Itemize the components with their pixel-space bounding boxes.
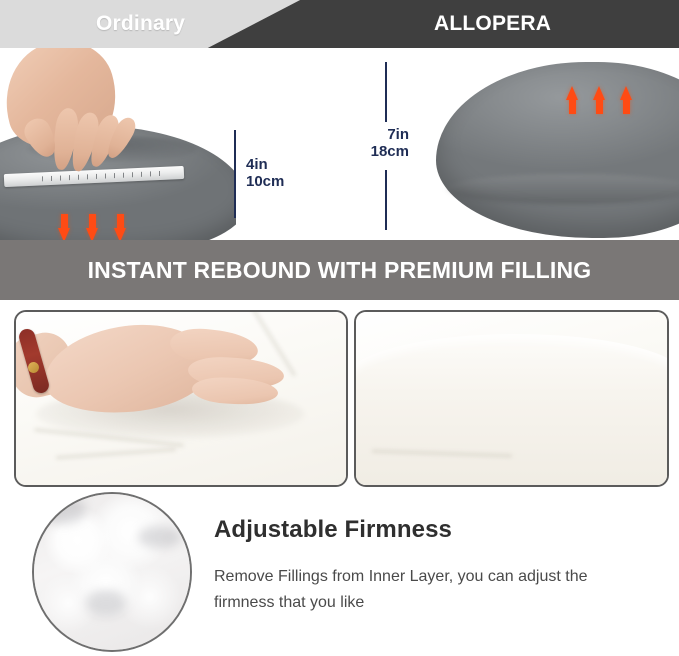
feature-description: Remove Fillings from Inner Layer, you ca… <box>214 564 642 616</box>
measurement-inches-ordinary: 4in <box>246 156 268 173</box>
measurement-cm-allopera: 18cm <box>371 143 409 160</box>
rebound-banner: INSTANT REBOUND WITH PREMIUM FILLING <box>0 240 679 300</box>
hand-image <box>20 318 300 430</box>
arrow-up-icon <box>593 86 606 114</box>
measurement-line <box>234 130 236 218</box>
arrow-down-icon <box>86 214 99 240</box>
arrow-up-icon <box>566 86 579 114</box>
hand-pressing-image <box>4 48 164 182</box>
measurement-line <box>385 62 387 122</box>
downward-arrows-group <box>58 214 127 240</box>
upward-arrows-group <box>566 86 633 114</box>
arrow-up-icon <box>620 86 633 114</box>
comparison-photo-row: 4in 10cm 7in 18cm <box>0 48 679 240</box>
arrow-down-icon <box>58 214 71 240</box>
measurement-inches-allopera: 7in <box>387 126 409 143</box>
measurement-label-ordinary: 4in 10cm <box>246 156 284 191</box>
rebounded-pillow-surface <box>354 334 669 487</box>
arrow-down-icon <box>114 214 127 240</box>
fill-shadow <box>86 590 126 616</box>
fiber-fill-circle-image <box>32 492 192 652</box>
adjustable-firmness-feature: Adjustable Firmness Remove Fillings from… <box>0 490 679 656</box>
measurement-callout-allopera: 7in 18cm <box>355 58 435 238</box>
header-label-brand: ALLOPERA <box>434 0 551 48</box>
panel-pillow-rebounded <box>354 310 669 487</box>
measurement-cm-ordinary: 10cm <box>246 173 284 190</box>
measurement-line <box>385 170 387 230</box>
banner-text: INSTANT REBOUND WITH PREMIUM FILLING <box>88 257 592 284</box>
allopera-pillow-scene <box>430 48 679 240</box>
product-infographic: Ordinary ALLOPERA <box>0 0 679 656</box>
fill-shadow <box>138 526 182 548</box>
ordinary-pillow-scene <box>0 48 236 240</box>
fill-shadow <box>40 496 86 524</box>
measurement-label-allopera: 7in 18cm <box>355 126 409 161</box>
allopera-pillow-image <box>436 62 679 238</box>
comparison-header-bar: Ordinary ALLOPERA <box>0 0 679 48</box>
pillow-seam-shadow <box>446 174 679 204</box>
header-label-ordinary: Ordinary <box>96 0 185 48</box>
photo-panel-row <box>0 310 679 485</box>
feature-title: Adjustable Firmness <box>214 516 654 544</box>
feature-text-block: Adjustable Firmness Remove Fillings from… <box>214 516 654 616</box>
measurement-callout-ordinary: 4in 10cm <box>228 120 318 230</box>
panel-hand-pressing <box>14 310 348 487</box>
